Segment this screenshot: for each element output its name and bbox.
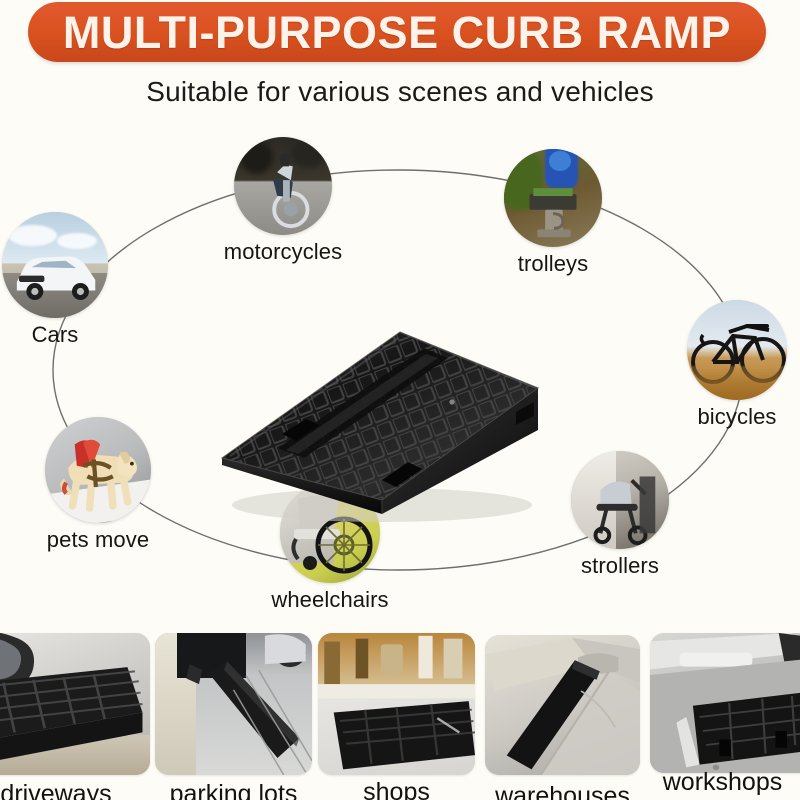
category-label-wheelchairs: wheelchairs [220,587,440,613]
parking-lot-photo [155,633,312,775]
category-label-cars: Cars [0,322,168,348]
workshop-photo [650,633,800,773]
category-node-trolleys[interactable]: trolleys [504,149,602,247]
scene-card-parking-lots[interactable] [155,633,312,775]
category-node-motorcycles[interactable]: motorcycles [234,137,332,235]
subtitle: Suitable for various scenes and vehicles [0,76,800,108]
stroller-photo [571,451,669,549]
scene-card-shops[interactable] [318,633,475,775]
category-label-strollers: strollers [511,553,729,579]
warehouse-photo [485,635,640,775]
scene-label-workshops: workshops [640,768,800,797]
driveway-photo [0,633,150,775]
category-node-strollers[interactable]: strollers [571,451,669,549]
shop-photo [318,633,475,775]
scene-card-warehouses[interactable] [485,635,640,775]
page-title: MULTI-PURPOSE CURB RAMP [63,10,731,55]
category-label-pets: pets move [0,527,211,553]
bicycle-photo [687,300,787,400]
category-node-pets[interactable]: pets move [45,417,151,523]
scene-label-parking-lots: parking lots [155,780,312,800]
title-banner: MULTI-PURPOSE CURB RAMP [28,2,766,62]
scene-label-warehouses: warehouses [485,782,640,800]
dog-photo [45,417,151,523]
category-node-cars[interactable]: Cars [2,212,108,318]
trolley-photo [504,149,602,247]
scene-label-driveways: driveways [0,780,150,800]
poster-canvas: MULTI-PURPOSE CURB RAMP Suitable for var… [0,0,800,800]
motorcycle-photo [234,137,332,235]
scene-label-shops: shops [318,778,475,800]
product-image-curb-ramp [186,262,558,522]
category-label-bicycles: bicycles [627,404,800,430]
car-photo [2,212,108,318]
category-node-bicycles[interactable]: bicycles [687,300,787,400]
scene-card-driveways[interactable] [0,633,150,775]
scene-card-workshops[interactable] [650,633,800,773]
